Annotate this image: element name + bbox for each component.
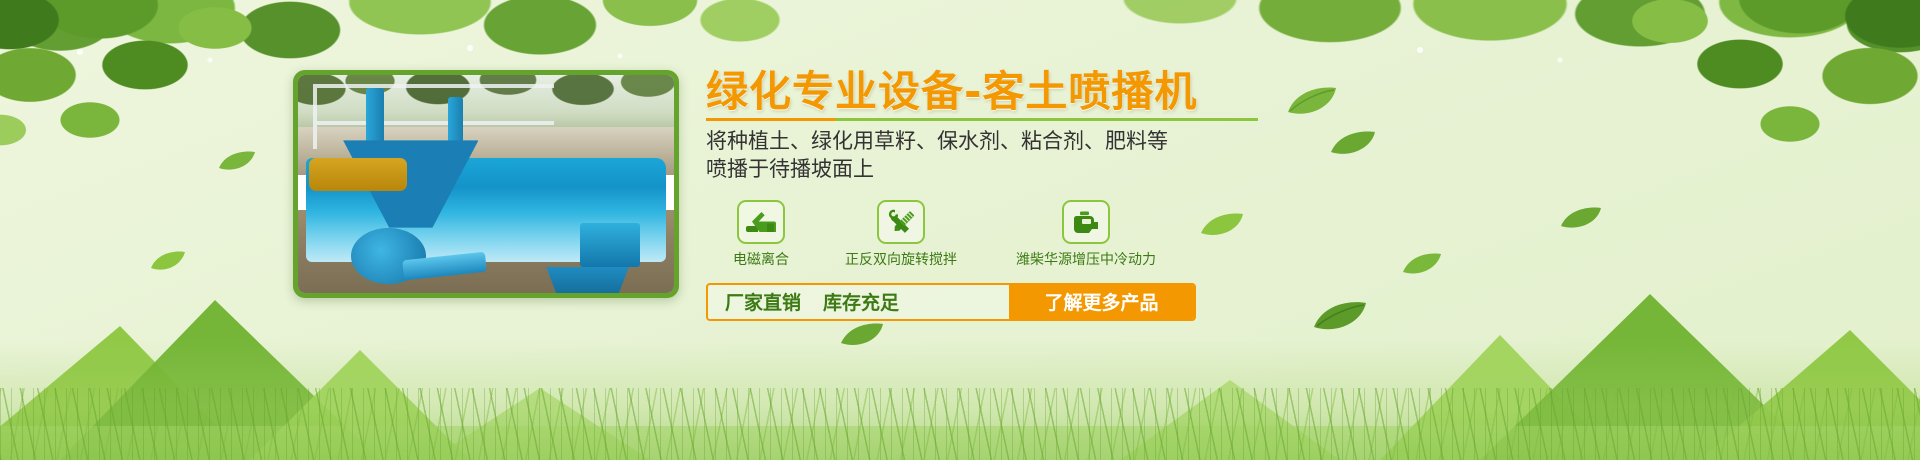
cta-slogan-1: 厂家直销 — [725, 288, 801, 315]
feature-item-bidirectional-mixing: 正反双向旋转搅拌 — [816, 200, 986, 269]
cta-slogans: 厂家直销 库存充足 — [708, 285, 1009, 319]
feature-label: 正反双向旋转搅拌 — [816, 249, 986, 269]
right-tree-cluster-decoration — [1600, 0, 1920, 176]
feature-item-electromagnetic-clutch: 电磁离合 — [706, 200, 816, 269]
cta-bar: 厂家直销 库存充足 了解更多产品 — [706, 283, 1196, 321]
floating-leaf-icon — [218, 150, 256, 172]
floating-leaf-icon — [1560, 206, 1602, 230]
banner-subtitle-line-2: 喷播于待播坡面上 — [706, 156, 1326, 184]
learn-more-button[interactable]: 了解更多产品 — [1009, 285, 1194, 319]
feature-list: 电磁离合 — [706, 200, 1326, 269]
product-photo[interactable] — [293, 70, 679, 298]
floating-leaf-icon — [840, 322, 884, 348]
feature-item-engine-power: 潍柴华源增压中冷动力 — [986, 200, 1186, 269]
promo-banner: 绿化专业设备-客土喷播机 将种植土、绿化用草籽、保水剂、粘合剂、肥料等 喷播于待… — [0, 0, 1920, 460]
headline-divider — [706, 118, 1258, 121]
feature-label: 电磁离合 — [706, 249, 816, 269]
product-photo-image — [298, 75, 674, 293]
cta-slogan-2: 库存充足 — [823, 288, 899, 315]
floating-leaf-icon — [1330, 130, 1376, 156]
banner-subtitle: 将种植土、绿化用草籽、保水剂、粘合剂、肥料等 喷播于待播坡面上 — [706, 128, 1326, 183]
grass-texture-decoration — [0, 340, 1920, 460]
floating-leaf-icon — [150, 250, 186, 272]
wrench-screwdriver-icon — [877, 200, 925, 244]
left-tree-cluster-decoration — [0, 0, 300, 190]
banner-headline: 绿化专业设备-客土喷播机 — [706, 70, 1326, 114]
banner-copy: 绿化专业设备-客土喷播机 将种植土、绿化用草籽、保水剂、粘合剂、肥料等 喷播于待… — [706, 70, 1326, 321]
feature-label: 潍柴华源增压中冷动力 — [986, 249, 1186, 269]
electromagnetic-clutch-icon — [737, 200, 785, 244]
engine-power-icon — [1062, 200, 1110, 244]
banner-subtitle-line-1: 将种植土、绿化用草籽、保水剂、粘合剂、肥料等 — [706, 128, 1326, 156]
floating-leaf-icon — [1402, 252, 1442, 276]
